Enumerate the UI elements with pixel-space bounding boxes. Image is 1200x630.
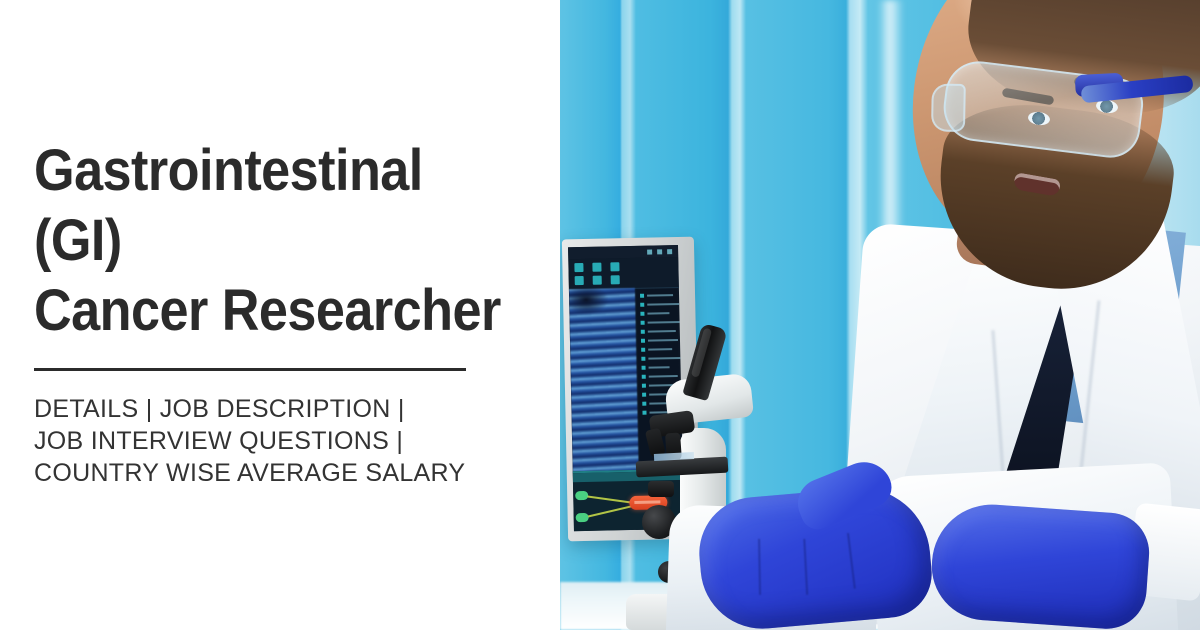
list-item xyxy=(640,319,676,326)
list-item xyxy=(639,301,675,308)
nitrile-glove-left xyxy=(928,501,1152,630)
text-panel: Gastrointestinal (GI) Cancer Researcher … xyxy=(0,0,560,630)
title-block: Gastrointestinal (GI) Cancer Researcher xyxy=(34,136,560,346)
graph-node-green-1 xyxy=(575,491,588,500)
goggles-nose-bridge xyxy=(931,83,966,132)
toolbar-icon-1 xyxy=(574,263,583,272)
list-item xyxy=(640,328,676,335)
glove-finger-crease xyxy=(758,539,761,595)
list-item xyxy=(640,346,676,353)
minimize-icon xyxy=(647,250,652,255)
glove-finger-crease xyxy=(803,539,808,595)
hero-photo xyxy=(560,0,1200,630)
title-divider xyxy=(34,368,466,371)
maximize-icon xyxy=(657,249,662,254)
job-banner: Gastrointestinal (GI) Cancer Researcher … xyxy=(0,0,1200,630)
microscope-condenser xyxy=(648,481,674,497)
list-item xyxy=(639,310,675,317)
toolbar-icon-4 xyxy=(575,276,584,285)
glove-finger-crease xyxy=(847,533,856,589)
toolbar-icon-3 xyxy=(610,262,619,271)
page-title: Gastrointestinal (GI) Cancer Researcher xyxy=(34,136,507,346)
list-item xyxy=(640,337,676,344)
page-subtitle: DETAILS | JOB DESCRIPTION | JOB INTERVIE… xyxy=(34,393,560,489)
close-icon xyxy=(667,249,672,254)
list-item xyxy=(639,292,675,299)
toolbar-icon-6 xyxy=(611,275,620,284)
graph-node-green-2 xyxy=(576,513,589,522)
toolbar-icon-5 xyxy=(593,276,602,285)
toolbar-icon-2 xyxy=(592,263,601,272)
